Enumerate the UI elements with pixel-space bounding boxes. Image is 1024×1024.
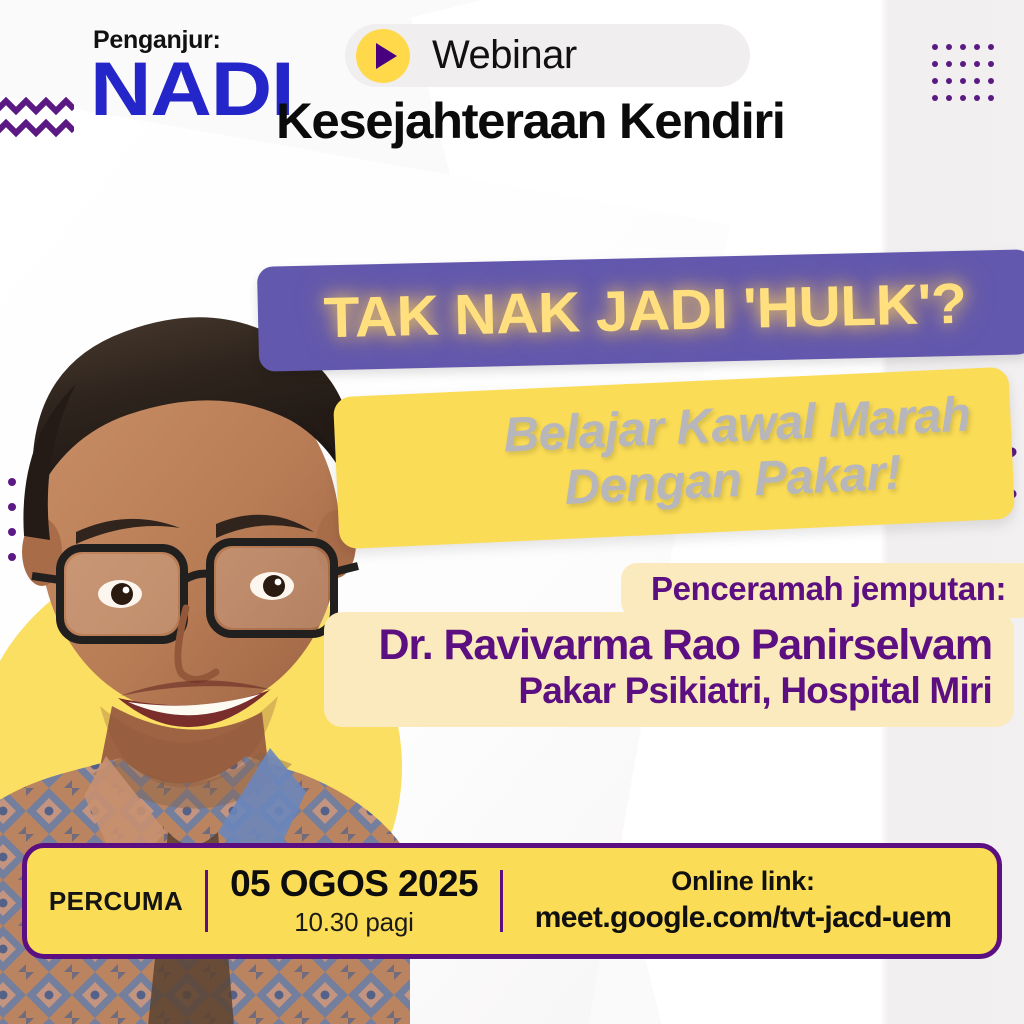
headline-banner: TAK NAK JADI 'HULK'? [257,249,1024,372]
online-link-url[interactable]: meet.google.com/tvt-jacd-uem [503,898,983,937]
event-date: 05 OGOS 2025 [208,863,500,906]
headline-text: TAK NAK JADI 'HULK'? [323,270,967,351]
webinar-poster: Penganjur: NADI Webinar Kesejahteraan Ke… [0,0,1024,1024]
online-link-label: Online link: [503,865,983,899]
price-label: PERCUMA [27,886,205,917]
speaker-name: Dr. Ravivarma Rao Panirselvam [346,621,992,669]
program-title: Kesejahteraan Kendiri [276,92,785,150]
date-block: 05 OGOS 2025 10.30 pagi [208,863,500,940]
nadi-logo: NADI [90,55,294,125]
event-time: 10.30 pagi [208,906,500,940]
webinar-badge: Webinar [345,24,750,87]
speaker-label: Penceramah jemputan: [621,563,1024,618]
wave-lines-icon [0,97,74,149]
webinar-badge-label: Webinar [432,33,577,78]
play-icon [356,29,410,83]
event-info-bar: PERCUMA 05 OGOS 2025 10.30 pagi Online l… [22,843,1002,959]
online-link-block: Online link: meet.google.com/tvt-jacd-ue… [503,865,997,938]
subtitle-block: Belajar Kawal Marah Dengan Pakar! [333,367,1015,550]
speaker-info: Dr. Ravivarma Rao Panirselvam Pakar Psik… [324,612,1014,727]
dot-grid-top-right-icon [932,44,1002,112]
speaker-role: Pakar Psikiatri, Hospital Miri [346,669,992,713]
